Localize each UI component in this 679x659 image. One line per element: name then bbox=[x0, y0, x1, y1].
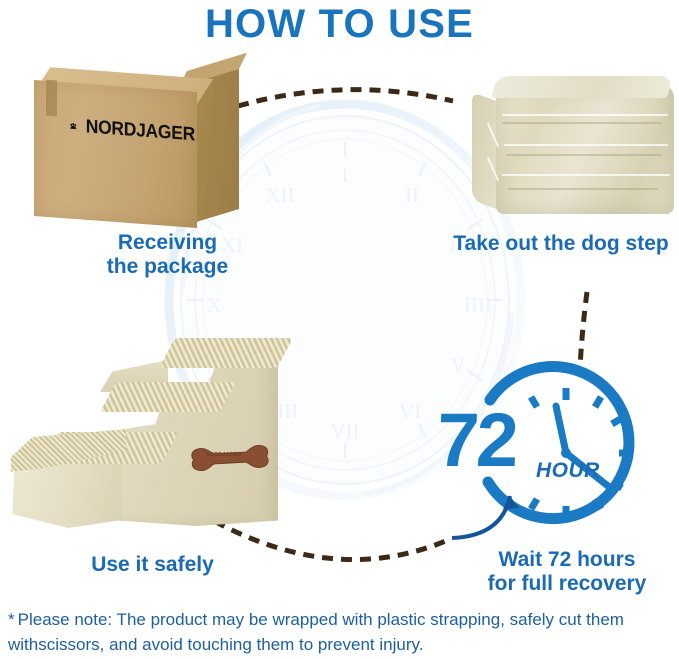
svg-text:VII: VII bbox=[330, 419, 359, 443]
caption-receiving-the-package: Receiving the package bbox=[60, 231, 275, 278]
svg-text:VI: VI bbox=[399, 399, 421, 423]
plastic-crease bbox=[502, 174, 670, 176]
caption-take-out-the-dog-step: Take out the dog step bbox=[443, 232, 679, 256]
step-tread-top bbox=[159, 338, 293, 368]
plastic-crease bbox=[504, 144, 668, 146]
step-tread-middle bbox=[100, 382, 236, 412]
clock-badge-graphic: 72 HOUR bbox=[432, 360, 662, 550]
svg-text:IIII: IIII bbox=[464, 293, 492, 317]
foam-dog-step-graphic bbox=[4, 332, 296, 542]
wrapped-foam-block-graphic bbox=[472, 68, 677, 220]
caption-use-it-safely: Use it safely bbox=[30, 553, 275, 577]
plastic-crease bbox=[502, 122, 662, 124]
cardboard-box-graphic: NORDJAGER bbox=[28, 58, 243, 228]
svg-text:II: II bbox=[405, 183, 419, 207]
clock-big-number: 72 bbox=[436, 410, 517, 472]
svg-text:I: I bbox=[342, 163, 349, 187]
wrap-top-face bbox=[491, 76, 672, 98]
plastic-crease bbox=[502, 114, 668, 116]
clock-unit-label: HOUR bbox=[536, 459, 600, 483]
page-title: HOW TO USE bbox=[0, 2, 679, 47]
svg-text:X: X bbox=[206, 293, 221, 317]
footer-asterisk: * bbox=[8, 610, 15, 629]
paw-print-icon bbox=[70, 116, 77, 137]
svg-text:XII: XII bbox=[265, 183, 294, 207]
footer-note-text: Please note: The product may be wrapped … bbox=[8, 610, 624, 654]
plastic-crease bbox=[506, 154, 662, 156]
wrap-front-face bbox=[496, 84, 674, 214]
footer-note: *Please note: The product may be wrapped… bbox=[8, 608, 676, 657]
box-front-panel bbox=[34, 80, 197, 228]
plastic-crease bbox=[508, 188, 658, 190]
box-tape-seam bbox=[46, 80, 57, 117]
bone-tag-text: NORDJAGER bbox=[206, 452, 242, 458]
bone-brand-tag bbox=[189, 439, 271, 477]
caption-wait-72-hours: Wait 72 hours for full recovery bbox=[455, 548, 679, 595]
how-to-use-infographic: I II III IIII V VI VII VIII IX X XI XII … bbox=[0, 0, 679, 659]
